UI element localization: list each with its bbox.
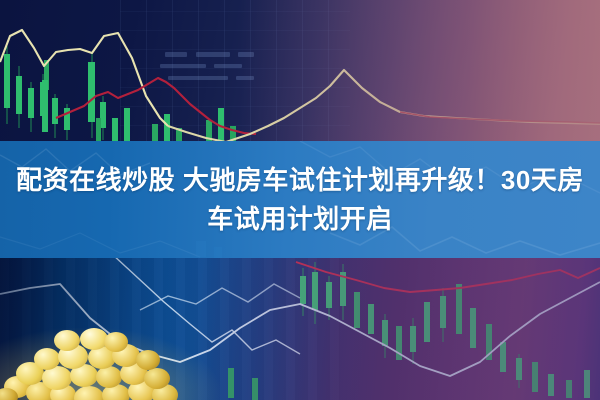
headline-line-1: 配资在线炒股 大驰房车试住计划再升级！30天房 <box>16 162 584 199</box>
headline-line-2: 车试用计划开启 <box>207 201 393 238</box>
bottom-chart-panel <box>0 258 600 400</box>
purple-haze-overlay <box>0 0 600 145</box>
headline-text: 配资在线炒股 大驰房车试住计划再升级！30天房 车试用计划开启 <box>0 141 600 259</box>
top-chart-panel <box>0 0 600 145</box>
banner-image: 配资在线炒股 大驰房车试住计划再升级！30天房 车试用计划开启 <box>0 0 600 400</box>
gold-coin-pile <box>0 314 209 400</box>
